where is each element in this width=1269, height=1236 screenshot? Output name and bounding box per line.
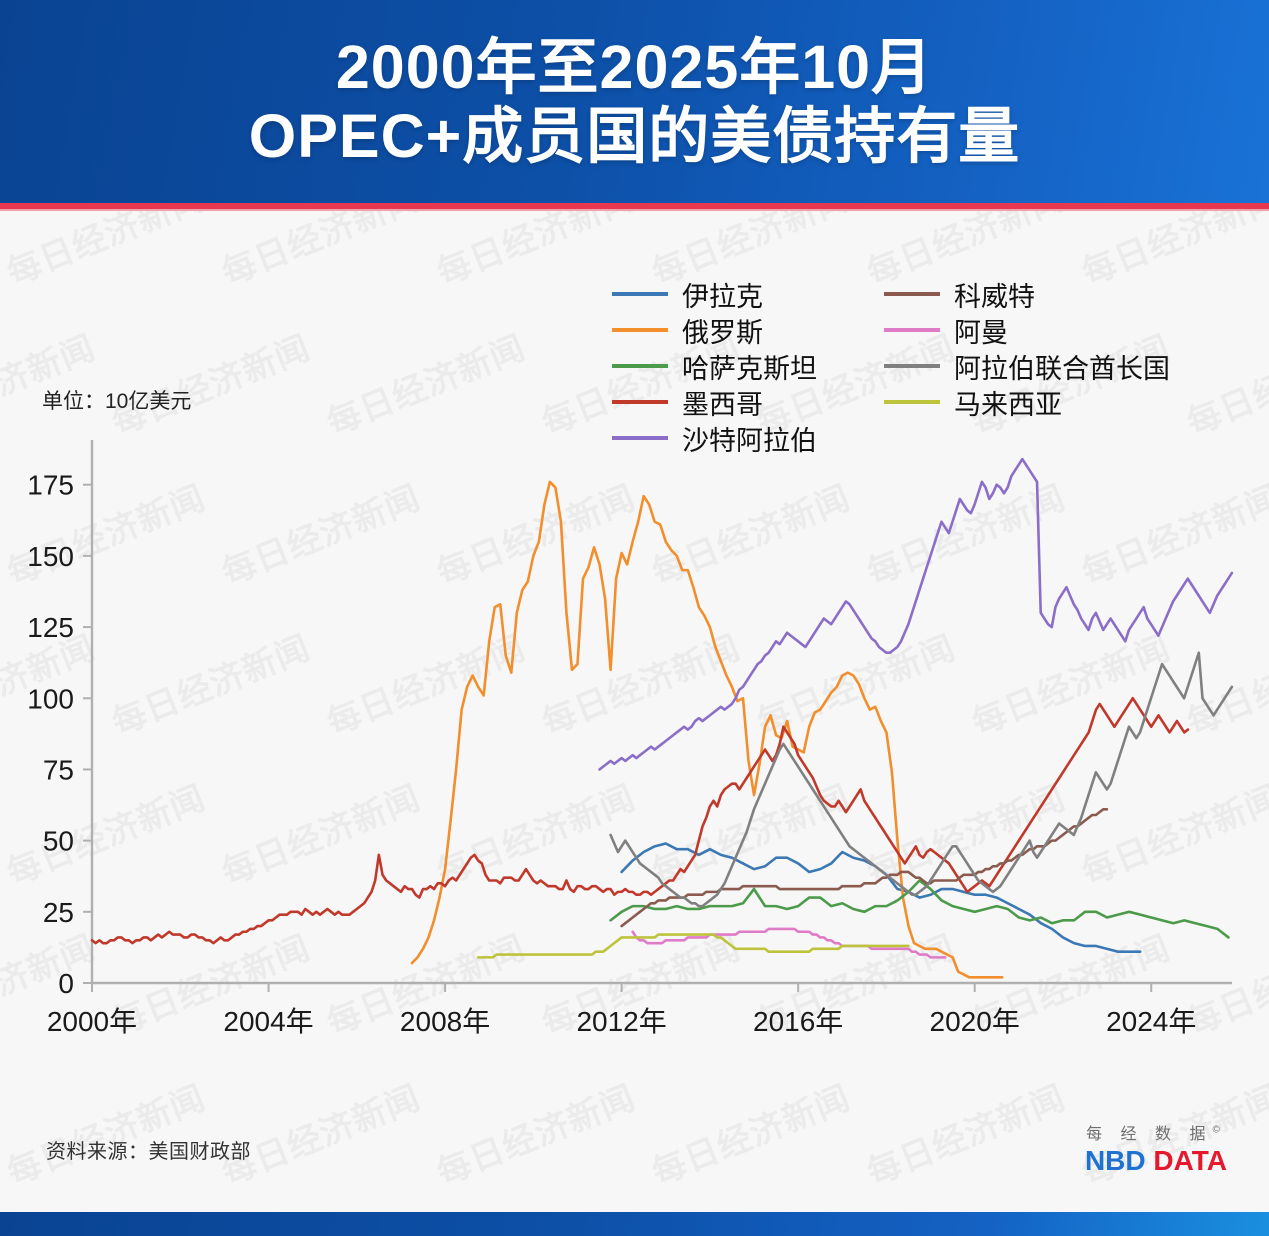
legend-item[interactable]: 科威特 [884, 276, 1184, 312]
legend-label: 哈萨克斯坦 [682, 347, 817, 386]
x-tick-label: 2000年 [47, 1006, 137, 1037]
y-tick-label: 100 [27, 683, 74, 714]
legend-color-swatch [612, 400, 668, 404]
nbd-logo-cn-text: 每 经 数 据 [1086, 1126, 1212, 1143]
legend-item[interactable]: 阿拉伯联合酋长国 [884, 348, 1184, 384]
page-title-line2: OPEC+成员国的美债持有量 [249, 102, 1021, 170]
nbd-logo-cn: 每 经 数 据© [1085, 1120, 1227, 1144]
legend-label: 马来西亚 [954, 383, 1062, 422]
legend-color-swatch [612, 436, 668, 440]
y-tick-label: 25 [43, 897, 74, 928]
legend-label: 阿拉伯联合酋长国 [954, 347, 1170, 386]
y-tick-label: 0 [58, 968, 74, 999]
chart-series-line [611, 880, 1229, 937]
y-tick-label: 175 [27, 470, 74, 501]
source-note: 资料来源：美国财政部 [46, 1135, 251, 1164]
nbd-logo: 每 经 数 据© NBD DATA [1085, 1120, 1227, 1177]
legend-item[interactable]: 墨西哥 [612, 384, 884, 420]
legend-color-swatch [884, 364, 940, 368]
legend-label: 俄罗斯 [682, 311, 763, 350]
x-tick-label: 2012年 [576, 1006, 666, 1037]
page-title-line1: 2000年至2025年10月 [249, 33, 1021, 101]
legend-color-swatch [612, 328, 668, 332]
nbd-logo-en: NBD DATA [1085, 1145, 1227, 1177]
x-tick-label: 2004年 [223, 1006, 313, 1037]
header-divider-soft [0, 209, 1269, 211]
legend-label: 沙特阿拉伯 [682, 419, 817, 458]
x-tick-label: 2016年 [753, 1006, 843, 1037]
copyright-mark: © [1212, 1125, 1219, 1136]
chart-series-line [600, 459, 1232, 769]
chart-series-line [611, 653, 1232, 906]
legend-label: 墨西哥 [682, 383, 763, 422]
y-tick-label: 50 [43, 826, 74, 857]
legend-label: 科威特 [954, 275, 1035, 314]
legend-color-swatch [884, 328, 940, 332]
legend-item[interactable]: 俄罗斯 [612, 312, 884, 348]
legend-label: 阿曼 [954, 311, 1008, 350]
chart-legend: 伊拉克科威特俄罗斯阿曼哈萨克斯坦阿拉伯联合酋长国墨西哥马来西亚沙特阿拉伯 [612, 276, 1184, 456]
legend-item[interactable]: 沙特阿拉伯 [612, 420, 884, 456]
legend-item[interactable]: 哈萨克斯坦 [612, 348, 884, 384]
legend-item-empty [884, 420, 1184, 456]
page-title: 2000年至2025年10月 OPEC+成员国的美债持有量 [249, 33, 1021, 170]
legend-color-swatch [612, 364, 668, 368]
x-tick-label: 2024年 [1106, 1006, 1196, 1037]
x-tick-label: 2020年 [930, 1006, 1020, 1037]
legend-item[interactable]: 阿曼 [884, 312, 1184, 348]
nbd-logo-data: DATA [1153, 1145, 1227, 1176]
legend-item[interactable]: 马来西亚 [884, 384, 1184, 420]
y-tick-label: 150 [27, 541, 74, 572]
x-tick-label: 2008年 [400, 1006, 490, 1037]
header-banner: 2000年至2025年10月 OPEC+成员国的美债持有量 [0, 0, 1269, 203]
legend-item[interactable]: 伊拉克 [612, 276, 884, 312]
legend-color-swatch [612, 292, 668, 296]
legend-label: 伊拉克 [682, 275, 763, 314]
unit-label: 单位：10亿美元 [42, 385, 191, 415]
legend-color-swatch [884, 292, 940, 296]
y-tick-label: 75 [43, 754, 74, 785]
nbd-logo-nbd: NBD [1085, 1145, 1146, 1176]
chart-series-line [633, 929, 946, 957]
y-tick-label: 125 [27, 612, 74, 643]
footer-bar [0, 1212, 1269, 1236]
legend-color-swatch [884, 400, 940, 404]
